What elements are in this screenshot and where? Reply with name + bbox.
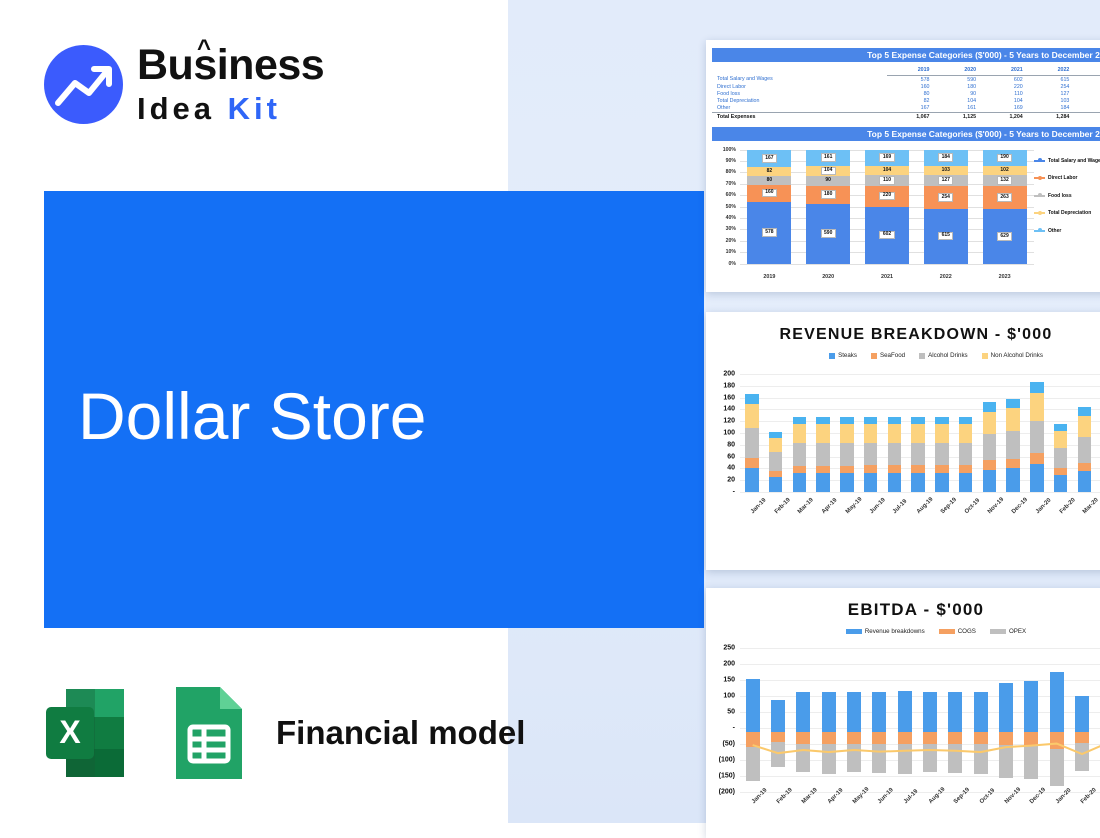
axis-tick-label: 100: [723, 693, 735, 700]
ebitda-chart-legend: Revenue breakdownsCOGSOPEX: [746, 628, 1100, 635]
expense-stacked-chart: 100%90%80%70%60%50%40%30%20%10%0% 167828…: [706, 144, 1100, 284]
axis-tick-label: -: [733, 489, 735, 496]
trending-up-arrow-icon: [44, 45, 123, 124]
expense-table-banner: Top 5 Expense Categories ($'000) - 5 Yea…: [712, 48, 1100, 62]
chart-bar: [1001, 374, 1025, 492]
ebitda-x-axis: Jan-19Feb-19Mar-19Apr-19May-19Jun-19Jul-…: [740, 800, 1100, 830]
table-row: Other167161169184190: [712, 105, 1100, 113]
axis-tick-label: 100%: [723, 147, 736, 153]
expense-categories-card[interactable]: Top 5 Expense Categories ($'000) - 5 Yea…: [706, 40, 1100, 292]
legend-swatch: [982, 353, 988, 359]
axis-tick-label: 150: [723, 677, 735, 684]
legend-item: OPEX: [990, 628, 1026, 635]
bar-value-label: 184: [938, 153, 953, 162]
table-column-header: 2020: [933, 66, 980, 76]
axis-tick-label: (150): [719, 773, 735, 780]
axis-tick-label: 2021: [865, 274, 909, 280]
axis-tick-label: 50%: [726, 204, 736, 210]
bar-value-label: 615: [938, 232, 953, 241]
chart-bar: [764, 374, 788, 492]
table-column-header: [712, 66, 887, 76]
chart-bar: 184103127254615: [924, 150, 968, 264]
table-total-row: Total Expenses1,0671,1251,2041,2841,316: [712, 112, 1100, 120]
page-title: Dollar Store: [78, 378, 426, 454]
legend-item: COGS: [939, 628, 976, 635]
chart-bar: [1025, 374, 1049, 492]
brand-name-kit: Kit: [228, 91, 281, 126]
revenue-bars: [740, 374, 1100, 492]
chart-x-axis: 20192020202120222023: [740, 274, 1034, 280]
axis-tick-label: 120: [723, 418, 735, 425]
revenue-chart-legend: SteaksSeaFoodAlcohol DrinksNon Alcohol D…: [746, 352, 1100, 359]
chart-bar: [740, 374, 764, 492]
legend-item: Direct Labor: [1034, 175, 1100, 181]
axis-tick-label: 0%: [729, 261, 737, 267]
microsoft-excel-icon: X: [44, 683, 148, 783]
legend-item: Total Salary and Wages: [1034, 158, 1100, 164]
bar-value-label: 629: [997, 232, 1012, 241]
table-row: Total Depreciation82104104103102: [712, 98, 1100, 105]
axis-tick-label: 80: [727, 441, 735, 448]
axis-tick-label: (50): [723, 741, 735, 748]
bar-value-label: 167: [762, 154, 777, 163]
legend-swatch: [846, 629, 862, 634]
legend-label: Direct Labor: [1048, 175, 1077, 181]
axis-tick-label: 2019: [747, 274, 791, 280]
bar-value-label: 104: [880, 167, 893, 174]
axis-tick-label: 2022: [924, 274, 968, 280]
chart-bar: [788, 374, 812, 492]
axis-tick-label: 160: [723, 394, 735, 401]
bar-value-label: 161: [821, 153, 836, 162]
bar-value-label: 104: [821, 167, 836, 176]
legend-swatch: [1034, 160, 1045, 162]
legend-swatch: [1034, 212, 1045, 214]
legend-item: Food loss: [1034, 193, 1100, 199]
revenue-plot-area: 20018016014012010080604020-: [710, 370, 1100, 502]
legend-label: Non Alcohol Drinks: [991, 352, 1043, 359]
legend-label: Other: [1048, 228, 1061, 234]
legend-item: Non Alcohol Drinks: [982, 352, 1043, 359]
axis-tick-label: 2020: [806, 274, 850, 280]
brand-name-idea: Idea: [137, 91, 215, 126]
bar-value-label: 160: [762, 189, 777, 198]
legend-swatch: [829, 353, 835, 359]
chart-bar: [1073, 374, 1097, 492]
revenue-x-axis: Jan-19Feb-19Mar-19Apr-19May-19Jun-19Jul-…: [740, 510, 1100, 540]
axis-tick-label: 20%: [726, 238, 736, 244]
brand-name-primary: Business ^: [137, 44, 324, 87]
chart-bar: [954, 374, 978, 492]
table-column-header: 2023: [1073, 66, 1100, 76]
legend-label: OPEX: [1009, 628, 1026, 635]
legend-item: SeaFood: [871, 352, 905, 359]
table-column-header: 2021: [980, 66, 1027, 76]
axis-tick-label: 40: [727, 465, 735, 472]
axis-tick-label: 250: [723, 645, 735, 652]
revenue-y-axis: 20018016014012010080604020-: [710, 370, 738, 502]
table-row: Total Salary and Wages578590602615629: [712, 76, 1100, 84]
bar-value-label: 82: [764, 169, 775, 176]
ebitda-plot-area: 25020015010050-(50)(100)(150)(200): [710, 644, 1100, 794]
revenue-chart-title: REVENUE BREAKDOWN - $'000: [706, 326, 1100, 344]
svg-text:X: X: [59, 714, 81, 750]
table-row: Food loss8090110127132: [712, 90, 1100, 97]
chart-plot-area: 1678280160578161104901805901691041102206…: [740, 150, 1034, 264]
format-label: Financial model: [276, 714, 525, 752]
legend-item: Revenue breakdowns: [846, 628, 925, 635]
chart-bar: [930, 374, 954, 492]
chart-bar: [1096, 374, 1100, 492]
axis-tick-label: 200: [723, 661, 735, 668]
axis-tick-label: 180: [723, 382, 735, 389]
legend-label: Revenue breakdowns: [865, 628, 925, 635]
axis-tick-label: 140: [723, 406, 735, 413]
bar-value-label: 220: [879, 192, 894, 201]
ebitda-card[interactable]: EBITDA - $'000 Revenue breakdownsCOGSOPE…: [706, 588, 1100, 838]
chart-bar: [835, 374, 859, 492]
bar-value-label: 190: [997, 154, 1012, 163]
brand-logo: Business ^ Idea Kit: [44, 44, 324, 124]
bar-value-label: 103: [939, 167, 952, 174]
chart-bar: [883, 374, 907, 492]
legend-item: Steaks: [829, 352, 857, 359]
axis-tick-label: 30%: [726, 226, 736, 232]
axis-tick-label: 60%: [726, 192, 736, 198]
chart-legend: Total Salary and WagesDirect LaborFood l…: [1034, 158, 1100, 246]
bar-value-label: 254: [938, 193, 953, 202]
axis-tick-label: 2023: [983, 274, 1027, 280]
axis-tick-label: -: [733, 725, 735, 732]
axis-tick-label: (200): [719, 789, 735, 796]
axis-tick-label: 20: [727, 477, 735, 484]
table-column-header: 2022: [1027, 66, 1074, 76]
axis-tick-label: (100): [719, 757, 735, 764]
table-header-row: 20192020202120222023: [712, 66, 1100, 76]
bar-value-label: 169: [879, 153, 894, 162]
axis-tick-label: 50: [727, 709, 735, 716]
bar-value-label: 102: [998, 167, 1011, 174]
format-badges: X Financial model: [44, 683, 525, 783]
circumflex-accent-icon: ^: [197, 37, 211, 61]
chart-bar: [1049, 374, 1073, 492]
expense-table: 20192020202120222023 Total Salary and Wa…: [712, 66, 1100, 121]
chart-bar: [811, 374, 835, 492]
table-column-header: 2019: [887, 66, 934, 76]
revenue-breakdown-card[interactable]: REVENUE BREAKDOWN - $'000 SteaksSeaFoodA…: [706, 312, 1100, 570]
bar-value-label: 90: [823, 178, 834, 185]
axis-tick-label: 10%: [726, 249, 736, 255]
ebitda-y-axis: 25020015010050-(50)(100)(150)(200): [710, 644, 738, 794]
legend-swatch: [939, 629, 955, 634]
chart-bar: 169104110220602: [865, 150, 909, 264]
legend-label: SeaFood: [880, 352, 905, 359]
expense-chart-banner: Top 5 Expense Categories ($'000) - 5 Yea…: [712, 127, 1100, 141]
chart-y-axis: 100%90%80%70%60%50%40%30%20%10%0%: [706, 144, 738, 284]
legend-label: Total Depreciation: [1048, 210, 1091, 216]
legend-swatch: [1034, 177, 1045, 179]
legend-swatch: [1034, 195, 1045, 197]
chart-bar: [859, 374, 883, 492]
legend-swatch: [990, 629, 1006, 634]
bar-value-label: 263: [997, 193, 1012, 202]
legend-swatch: [871, 353, 877, 359]
legend-item: Total Depreciation: [1034, 210, 1100, 216]
legend-item: Alcohol Drinks: [919, 352, 968, 359]
brand-name-primary-text: Business: [137, 41, 324, 89]
bar-value-label: 590: [821, 229, 836, 238]
legend-label: COGS: [958, 628, 976, 635]
bar-value-label: 80: [764, 177, 775, 184]
bar-value-label: 132: [997, 176, 1012, 185]
axis-tick-label: 100: [723, 430, 735, 437]
ebitda-chart-title: EBITDA - $'000: [706, 600, 1100, 620]
chart-bar: 1678280160578: [747, 150, 791, 264]
axis-tick-label: 70%: [726, 181, 736, 187]
bar-value-label: 180: [821, 190, 836, 199]
legend-label: Steaks: [838, 352, 857, 359]
legend-label: Alcohol Drinks: [928, 352, 968, 359]
legend-swatch: [919, 353, 925, 359]
legend-label: Food loss: [1048, 193, 1072, 199]
chart-bar: [906, 374, 930, 492]
table-row: Direct Labor160180220254263: [712, 83, 1100, 90]
brand-name-secondary: Idea Kit: [137, 93, 324, 124]
axis-tick-label: 200: [723, 371, 735, 378]
bar-value-label: 127: [938, 176, 953, 185]
axis-tick-label: 40%: [726, 215, 736, 221]
bar-value-label: 110: [879, 176, 894, 185]
axis-tick-label: 60: [727, 453, 735, 460]
google-sheets-icon: [170, 683, 248, 783]
chart-bar: 190102132263629: [983, 150, 1027, 264]
legend-swatch: [1034, 230, 1045, 232]
bar-value-label: 578: [762, 228, 777, 237]
bar-value-label: 602: [879, 231, 894, 240]
chart-bar: 16110490180590: [806, 150, 850, 264]
legend-item: Other: [1034, 228, 1100, 234]
legend-label: Total Salary and Wages: [1048, 158, 1100, 164]
axis-tick-label: 90%: [726, 158, 736, 164]
chart-bar: [978, 374, 1002, 492]
axis-tick-label: 80%: [726, 169, 736, 175]
